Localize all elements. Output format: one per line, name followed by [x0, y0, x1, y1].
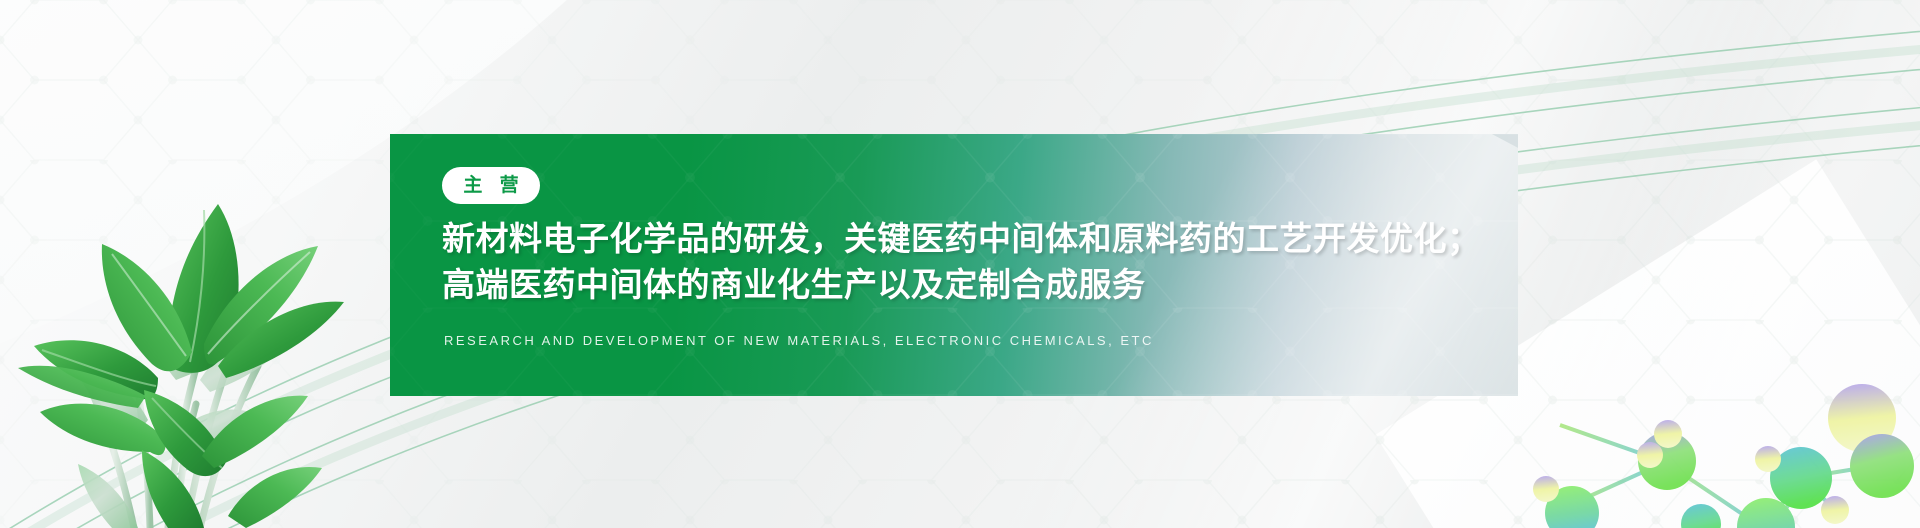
main-banner-panel: 主 营 新材料电子化学品的研发，关键医药中间体和原料药的工艺开发优化； 高端医药… — [390, 134, 1518, 396]
category-badge-label: 主 营 — [457, 176, 524, 195]
headline-line-2: 高端医药中间体的商业化生产以及定制合成服务 — [442, 262, 1502, 308]
headline-line-1: 新材料电子化学品的研发，关键医药中间体和原料药的工艺开发优化； — [442, 216, 1502, 262]
category-badge: 主 营 — [442, 167, 540, 204]
banner-stage: 主 营 新材料电子化学品的研发，关键医药中间体和原料药的工艺开发优化； 高端医药… — [0, 0, 1920, 528]
banner-headline: 新材料电子化学品的研发，关键医药中间体和原料药的工艺开发优化； 高端医药中间体的… — [442, 216, 1502, 308]
banner-subtitle: RESEARCH AND DEVELOPMENT OF NEW MATERIAL… — [444, 334, 1154, 347]
